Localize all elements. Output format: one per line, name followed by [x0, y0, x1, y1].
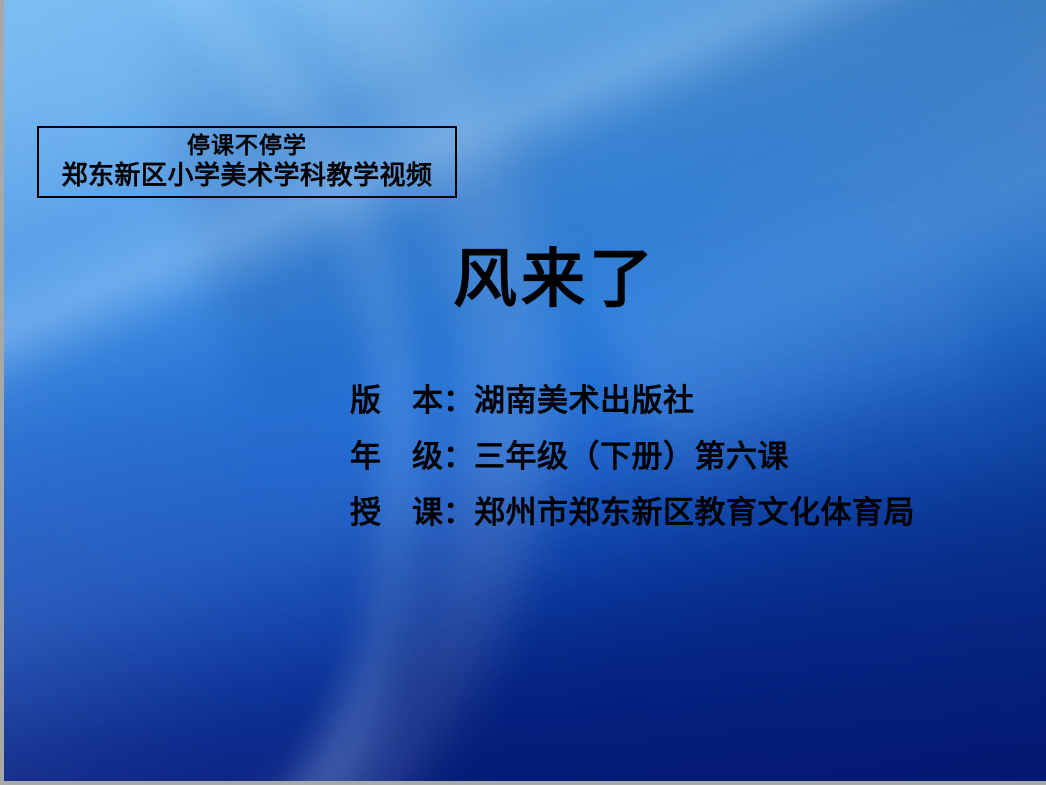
meta-row-edition: 版 本： 湖南美术出版社 — [350, 382, 915, 420]
slide-content: 停课不停学 郑东新区小学美术学科教学视频 风来了 版 本： 湖南美术出版社 年 … — [4, 0, 1046, 781]
meta-row-instructor: 授 课： 郑州市郑东新区教育文化体育局 — [350, 494, 915, 532]
meta-value-edition: 湖南美术出版社 — [474, 382, 695, 420]
meta-value-grade: 三年级（下册）第六课 — [474, 438, 789, 476]
slide-canvas: 停课不停学 郑东新区小学美术学科教学视频 风来了 版 本： 湖南美术出版社 年 … — [4, 0, 1046, 781]
meta-row-grade: 年 级： 三年级（下册）第六课 — [350, 438, 915, 476]
meta-value-instructor: 郑州市郑东新区教育文化体育局 — [474, 494, 915, 532]
banner-line-2: 郑东新区小学美术学科教学视频 — [61, 161, 432, 191]
slide-metadata-list: 版 本： 湖南美术出版社 年 级： 三年级（下册）第六课 授 课： 郑州市郑东新… — [350, 382, 915, 532]
presentation-slide: 停课不停学 郑东新区小学美术学科教学视频 风来了 版 本： 湖南美术出版社 年 … — [0, 0, 1046, 785]
meta-label-grade: 年 级： — [350, 438, 474, 476]
banner-line-1: 停课不停学 — [187, 133, 307, 159]
meta-label-edition: 版 本： — [350, 382, 474, 420]
banner-box: 停课不停学 郑东新区小学美术学科教学视频 — [37, 126, 457, 198]
meta-label-instructor: 授 课： — [350, 494, 474, 532]
slide-title: 风来了 — [4, 244, 1046, 316]
